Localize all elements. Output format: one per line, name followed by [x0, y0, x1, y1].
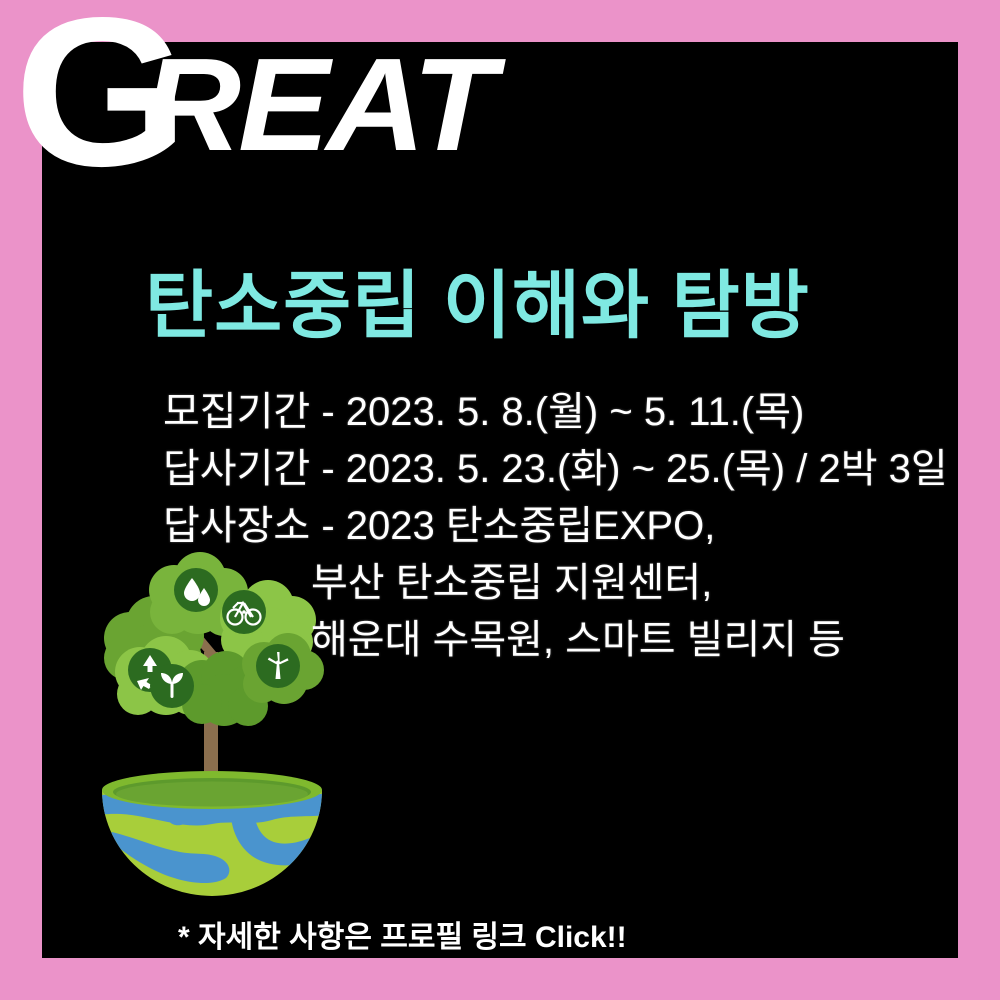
detail-line-location-3: 해운대 수목원, 스마트 빌리지 등	[163, 612, 948, 669]
great-logo: G REAT	[0, 0, 520, 200]
detail-line-recruit-period: 모집기간 - 2023. 5. 8.(월) ~ 5. 11.(목)	[163, 384, 948, 441]
half-globe-bowl	[92, 771, 332, 896]
poster-canvas: G REAT 탄소중립 이해와 탐방 모집기간 - 2023. 5. 8.(월)…	[0, 0, 1000, 1000]
logo-word-reat: REAT	[142, 46, 493, 164]
sprout-icon	[150, 664, 194, 708]
detail-line-tour-location: 답사장소 - 2023 탄소중립EXPO,	[163, 498, 948, 555]
detail-line-tour-period: 답사기간 - 2023. 5. 23.(화) ~ 25.(목) / 2박 3일	[163, 441, 948, 498]
program-details: 모집기간 - 2023. 5. 8.(월) ~ 5. 11.(목) 답사기간 -…	[163, 384, 948, 669]
detail-line-location-2: 부산 탄소중립 지원센터,	[163, 555, 948, 612]
page-title: 탄소중립 이해와 탐방	[145, 246, 810, 353]
footer-note: * 자세한 사항은 프로필 링크 Click!!	[178, 912, 627, 956]
